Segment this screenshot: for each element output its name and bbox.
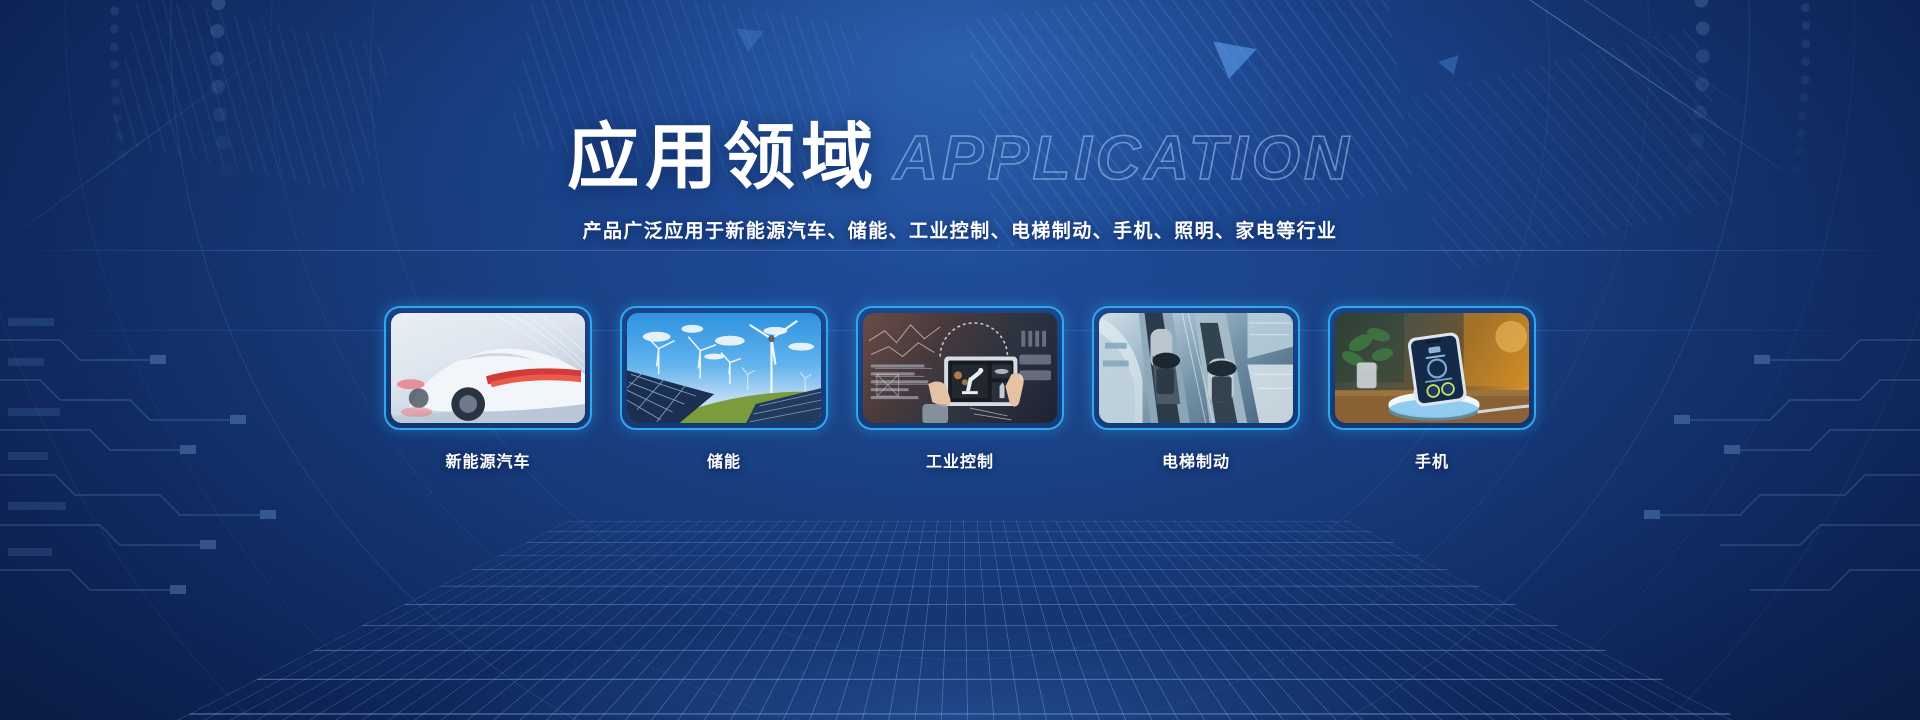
diagonal-line-2 [1426,0,1775,128]
banner-header: 应用领域 APPLICATION 产品广泛应用于新能源汽车、储能、工业控制、电梯… [0,122,1920,243]
page-title-english: APPLICATION [893,128,1353,190]
electric-car-illustration-icon [391,313,585,423]
card-label: 储能 [707,448,741,472]
triangle-icon-1 [1207,41,1256,82]
card-frame [620,306,828,430]
page-subtitle: 产品广泛应用于新能源汽车、储能、工业控制、电梯制动、手机、照明、家电等行业 [0,216,1920,243]
application-card-new-energy-vehicle[interactable]: 新能源汽车 [384,306,592,472]
card-thumbnail-elevator [1099,313,1293,423]
application-banner: 应用领域 APPLICATION 产品广泛应用于新能源汽车、储能、工业控制、电梯… [0,0,1920,720]
phone-wireless-charger-illustration-icon [1335,313,1529,423]
card-frame [1328,306,1536,430]
application-card-mobile-phone[interactable]: 手机 [1328,306,1536,472]
card-frame [1092,306,1300,430]
card-frame [856,306,1064,430]
card-label: 手机 [1415,448,1449,472]
application-card-list: 新能源汽车 [0,306,1920,472]
application-card-industrial-control[interactable]: 工业控制 [856,306,1064,472]
card-label: 电梯制动 [1162,448,1230,472]
triangle-icon-3 [734,29,764,54]
card-label: 工业控制 [926,448,994,472]
card-thumbnail-electric-car [391,313,585,423]
elevator-illustration-icon [1099,313,1293,423]
card-thumbnail-industrial-control [863,313,1057,423]
solar-wind-illustration-icon [627,313,821,423]
application-card-elevator-brake[interactable]: 电梯制动 [1092,306,1300,472]
application-card-energy-storage[interactable]: 储能 [620,306,828,472]
card-label: 新能源汽车 [445,448,530,472]
card-frame [384,306,592,430]
perspective-grid-floor [0,430,1920,720]
card-thumbnail-phone-charger [1335,313,1529,423]
triangle-icon-2 [1438,55,1464,78]
horizon-line-1 [0,250,1920,251]
page-title: 应用领域 [567,122,879,194]
card-thumbnail-solar-wind [627,313,821,423]
industrial-control-illustration-icon [863,313,1057,423]
